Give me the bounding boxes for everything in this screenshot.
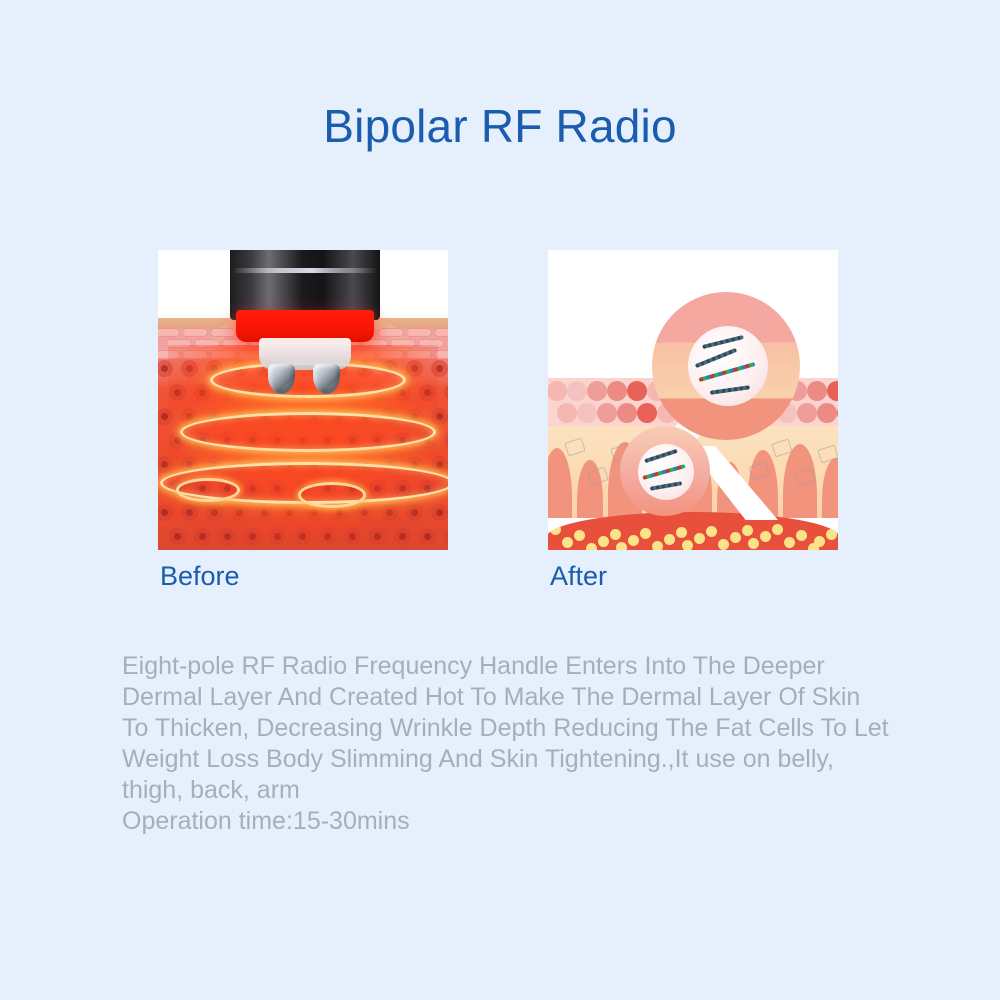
energy-ring-small-1: [298, 482, 366, 508]
operation-time-line: Operation time:15-30mins: [122, 806, 892, 837]
collagen-fiber-active: [642, 464, 685, 480]
fibroblast: [564, 438, 585, 457]
epidermis-cell: [827, 381, 838, 401]
epidermis-cell: [210, 328, 236, 337]
epidermis-cell: [158, 328, 180, 337]
fat-globule: [640, 528, 651, 539]
epidermis-cell: [637, 403, 657, 423]
epidermis-cell: [837, 403, 838, 423]
fat-globule: [730, 532, 741, 543]
epidermis-cell: [446, 339, 448, 348]
epidermis-cell: [807, 381, 827, 401]
fat-globule: [652, 541, 663, 550]
epidermis-cell: [597, 403, 617, 423]
magnifier-circle-lower: [620, 426, 710, 516]
epidermis-cell: [434, 328, 448, 337]
product-feature-slide: { "page": { "background_color": "#e6f0fc…: [0, 0, 1000, 1000]
fat-globule: [586, 543, 597, 550]
fat-globule: [718, 539, 729, 550]
magnifier-core-lower: [638, 444, 694, 500]
epidermis-cell: [406, 328, 432, 337]
collagen-fiber: [710, 385, 750, 395]
fat-globule: [598, 536, 609, 547]
fat-globule: [550, 524, 561, 535]
fat-globule: [694, 533, 705, 544]
before-illustration: [158, 250, 448, 550]
fat-globule: [796, 530, 807, 541]
fat-globule: [760, 531, 771, 542]
epidermis-cell: [548, 381, 567, 401]
energy-ring-2: [180, 412, 436, 452]
collagen-fiber: [695, 348, 737, 368]
epidermis-cell: [817, 403, 837, 423]
fat-globule: [742, 525, 753, 536]
fat-globule: [814, 536, 825, 547]
dermis-cell: [444, 528, 448, 545]
fat-globule: [676, 527, 687, 538]
fat-globule: [616, 542, 627, 550]
fat-globule: [682, 540, 693, 550]
collagen-fiber-active: [699, 362, 756, 382]
energy-ring-small-2: [176, 478, 240, 502]
rf-handle-seam: [232, 268, 378, 273]
epidermis-cell: [182, 328, 208, 337]
fat-globule: [574, 530, 585, 541]
collagen-fiber: [650, 481, 682, 490]
before-image-panel: [158, 250, 448, 550]
fat-globule: [784, 537, 795, 548]
fat-globule: [628, 535, 639, 546]
epidermis-cell: [617, 403, 637, 423]
epidermis-cell: [567, 381, 587, 401]
after-illustration: [548, 250, 838, 550]
epidermis-cell: [797, 403, 817, 423]
fat-globule: [826, 529, 837, 540]
epidermis-cell: [607, 381, 627, 401]
magnifier-circle-upper: [652, 292, 800, 440]
epidermis-cell: [627, 381, 647, 401]
dermal-papilla: [548, 448, 572, 518]
collagen-fiber: [702, 335, 744, 349]
dermal-papilla: [822, 458, 838, 518]
fat-globule: [772, 524, 783, 535]
fat-globule: [610, 529, 621, 540]
after-caption: After: [550, 560, 607, 592]
fat-globule: [748, 538, 759, 549]
epidermis-cell: [587, 381, 607, 401]
before-caption: Before: [160, 560, 240, 592]
epidermis-cell: [557, 403, 577, 423]
collagen-fiber: [644, 449, 678, 463]
fat-globule: [706, 526, 717, 537]
description-block: Eight-pole RF Radio Frequency Handle Ent…: [122, 620, 892, 868]
magnifier-core-upper: [688, 326, 768, 406]
description-paragraph: Eight-pole RF Radio Frequency Handle Ent…: [122, 652, 889, 804]
fat-globule: [664, 534, 675, 545]
after-image-panel: [548, 250, 838, 550]
epidermis-cell: [577, 403, 597, 423]
fat-globule: [562, 537, 573, 548]
epidermis-cell: [378, 328, 404, 337]
dermis-cell: [444, 432, 448, 449]
dermis-cell: [444, 384, 448, 401]
page-title: Bipolar RF Radio: [0, 98, 1000, 154]
